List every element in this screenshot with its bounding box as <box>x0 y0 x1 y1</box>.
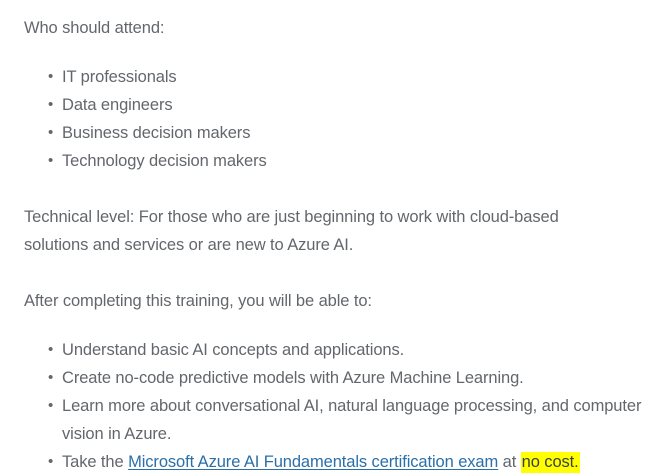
bullet-icon: • <box>48 336 53 364</box>
list-item-label: Understand basic AI concepts and applica… <box>62 341 404 359</box>
certification-exam-link[interactable]: Microsoft Azure AI Fundamentals certific… <box>128 453 498 471</box>
who-should-attend-list: • IT professionals • Data engineers • Bu… <box>24 63 624 175</box>
bullet-icon: • <box>48 119 53 147</box>
list-item-certification: •Take the Microsoft Azure AI Fundamental… <box>24 448 624 476</box>
bullet-icon: • <box>48 392 53 420</box>
list-item: • Data engineers <box>24 91 624 119</box>
certification-middle-text: at <box>498 453 521 471</box>
list-item-label: Technology decision makers <box>62 152 267 170</box>
after-training-heading: After completing this training, you will… <box>24 287 624 315</box>
document-body: Who should attend: • IT professionals • … <box>0 0 657 460</box>
list-item-label: Data engineers <box>62 96 173 114</box>
list-item-label: Create no-code predictive models with Az… <box>62 369 524 387</box>
highlighted-no-cost-text: no cost. <box>521 452 580 473</box>
bullet-icon: • <box>48 448 53 476</box>
list-item-label: Business decision makers <box>62 124 250 142</box>
certification-prefix-text: Take the <box>62 453 128 471</box>
bullet-icon: • <box>48 91 53 119</box>
who-should-attend-heading: Who should attend: <box>24 14 624 42</box>
bullet-icon: • <box>48 63 53 91</box>
bullet-icon: • <box>48 147 53 175</box>
list-item: • Technology decision makers <box>24 147 624 175</box>
list-item: • IT professionals <box>24 63 624 91</box>
list-item: • Create no-code predictive models with … <box>24 364 624 392</box>
bullet-icon: • <box>48 364 53 392</box>
list-item-label: IT professionals <box>62 68 177 86</box>
technical-level-paragraph: Technical level: For those who are just … <box>24 203 624 259</box>
list-item: • Business decision makers <box>24 119 624 147</box>
list-item-label: Learn more about conversational AI, natu… <box>62 397 641 443</box>
after-training-list: • Understand basic AI concepts and appli… <box>24 336 624 476</box>
list-item: • Learn more about conversational AI, na… <box>24 392 657 448</box>
document-content: Who should attend: • IT professionals • … <box>24 0 624 476</box>
list-item: • Understand basic AI concepts and appli… <box>24 336 624 364</box>
